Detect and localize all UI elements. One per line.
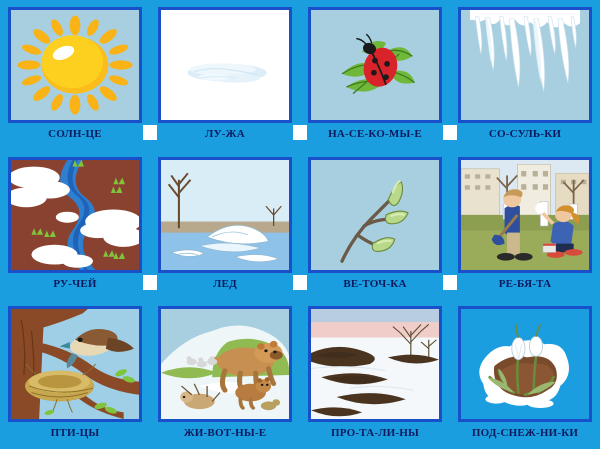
card-image-children-planting <box>458 157 592 273</box>
stream-illustration <box>11 160 139 270</box>
card-cell-vetochka[interactable]: ВЕ-ТОЧ-КА <box>300 150 450 300</box>
ladybug-illustration <box>311 10 439 120</box>
card-label: СОЛН-ЦЕ <box>48 128 102 140</box>
card-image-stream <box>8 157 142 273</box>
branch-buds-illustration <box>311 160 439 270</box>
sun-illustration <box>11 10 139 120</box>
card-cell-protaliny[interactable]: ПРО-ТА-ЛИ-НЫ <box>300 299 450 449</box>
thawed-patches-illustration <box>311 309 439 419</box>
snowdrops-illustration <box>461 309 589 419</box>
bear-family-illustration <box>161 309 289 419</box>
card-grid: СОЛН-ЦЕ ЛУ-ЖА <box>0 0 600 449</box>
card-label: РЕ-БЯ-ТА <box>499 278 552 290</box>
card-cell-zhivotnye[interactable]: ЖИ-ВОТ-НЫ-Е <box>150 299 300 449</box>
card-label: ЛУ-ЖА <box>205 128 245 140</box>
card-cell-solntse[interactable]: СОЛН-ЦЕ <box>0 0 150 150</box>
card-cell-ruchey[interactable]: РУ-ЧЕЙ <box>0 150 150 300</box>
card-cell-luzha[interactable]: ЛУ-ЖА <box>150 0 300 150</box>
bird-nest-illustration <box>11 309 139 419</box>
card-label: ПТИ-ЦЫ <box>51 427 100 439</box>
card-label: ПРО-ТА-ЛИ-НЫ <box>331 427 419 439</box>
card-cell-sosulki[interactable]: СО-СУЛЬ-КИ <box>450 0 600 150</box>
card-image-bird-nest <box>8 306 142 422</box>
card-label: НА-СЕ-КО-МЫ-Е <box>328 128 422 140</box>
card-image-snowdrops <box>458 306 592 422</box>
card-label: ВЕ-ТОЧ-КА <box>343 278 406 290</box>
ice-floe-illustration <box>161 160 289 270</box>
card-image-thawed-patches <box>308 306 442 422</box>
white-square-separator <box>443 125 457 140</box>
card-image-ice-floe <box>158 157 292 273</box>
card-label: ЖИ-ВОТ-НЫ-Е <box>184 427 267 439</box>
card-label: РУ-ЧЕЙ <box>53 278 96 290</box>
white-square-separator <box>293 275 307 290</box>
card-cell-ptitsy[interactable]: ПТИ-ЦЫ <box>0 299 150 449</box>
card-image-puddle <box>158 7 292 123</box>
white-square-separator <box>293 125 307 140</box>
card-image-ladybug <box>308 7 442 123</box>
card-image-branch-buds <box>308 157 442 273</box>
card-cell-podsnezhniki[interactable]: ПОД-СНЕЖ-НИ-КИ <box>450 299 600 449</box>
card-label: ПОД-СНЕЖ-НИ-КИ <box>472 427 578 439</box>
children-planting-illustration <box>461 160 589 270</box>
card-cell-led[interactable]: ЛЕД <box>150 150 300 300</box>
card-label: СО-СУЛЬ-КИ <box>489 128 561 140</box>
white-square-separator <box>443 275 457 290</box>
icicles-illustration <box>461 10 589 120</box>
card-cell-nasekomye[interactable]: НА-СЕ-КО-МЫ-Е <box>300 0 450 150</box>
card-image-sun <box>8 7 142 123</box>
card-cell-rebyata[interactable]: РЕ-БЯ-ТА <box>450 150 600 300</box>
puddle-illustration <box>161 10 289 120</box>
card-image-icicles <box>458 7 592 123</box>
white-square-separator <box>143 275 157 290</box>
card-image-bear-family <box>158 306 292 422</box>
card-label: ЛЕД <box>213 278 237 290</box>
white-square-separator <box>143 125 157 140</box>
